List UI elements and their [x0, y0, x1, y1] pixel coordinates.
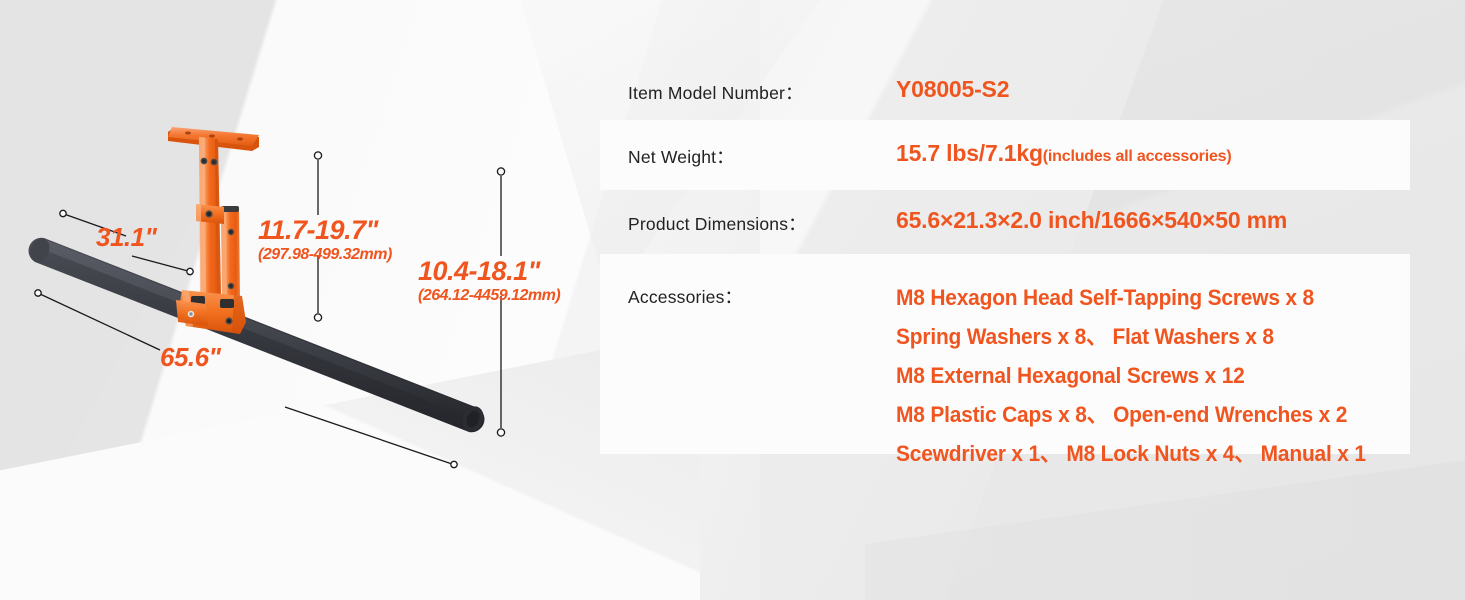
accessory-line: M8 External Hexagonal Screws x 12: [896, 356, 1374, 395]
callout-inch-value: 11.7-19.7": [258, 215, 392, 245]
callout-mm-value: (264.12-4459.12mm): [418, 286, 560, 306]
product-spec-banner: 31.1" 11.7-19.7" (297.98-499.32mm) 10.4-…: [0, 0, 1465, 600]
callout-rail-length-full: 65.6": [160, 342, 220, 372]
spec-row-accessories: Accessories： M8 Hexagon Head Self-Tappin…: [600, 254, 1410, 454]
callout-overall-height-range: 10.4-18.1" (264.12-4459.12mm): [418, 256, 560, 306]
spec-label: Net Weight：: [628, 120, 896, 169]
callout-inch-value: 31.1": [96, 222, 156, 252]
spec-row-net-weight: Net Weight： 15.7 lbs/7.1kg(includes all …: [600, 120, 1410, 190]
clamp-collar-upper: [196, 204, 224, 224]
callout-inch-value: 10.4-18.1": [418, 256, 560, 286]
spec-value-main: 15.7 lbs/7.1kg: [896, 140, 1043, 166]
callout-inch-value: 65.6": [160, 342, 220, 372]
spec-table: Item Model Number： Y08005-S2 Net Weight：…: [600, 60, 1410, 454]
accessory-line: M8 Hexagon Head Self-Tapping Screws x 8: [896, 278, 1374, 317]
spec-row-product-dimensions: Product Dimensions： 65.6×21.3×2.0 inch/1…: [600, 190, 1410, 254]
spec-value: M8 Hexagon Head Self-Tapping Screws x 8 …: [896, 254, 1410, 473]
accessory-line: M8 Plastic Caps x 8、 Open-end Wrenches x…: [896, 395, 1374, 434]
spec-row-item-model-number: Item Model Number： Y08005-S2: [600, 60, 1410, 120]
callout-post-height-range: 11.7-19.7" (297.98-499.32mm): [258, 215, 392, 265]
accessory-line: Scewdriver x 1、 M8 Lock Nuts x 4、 Manual…: [896, 434, 1374, 473]
spec-value-text: 15.7 lbs/7.1kg(includes all accessories): [896, 140, 1231, 166]
spec-label: Accessories：: [628, 254, 896, 309]
base-bracket: [176, 290, 246, 334]
spec-value-note: (includes all accessories): [1043, 148, 1232, 165]
spec-value: Y08005-S2: [896, 60, 1410, 102]
dimension-leader-lines: [35, 152, 505, 468]
callout-mm-value: (297.98-499.32mm): [258, 245, 392, 265]
callout-rail-length-short: 31.1": [96, 222, 156, 252]
spec-value: 65.6×21.3×2.0 inch/1666×540×50 mm: [896, 190, 1410, 233]
spec-value-text: Y08005-S2: [896, 76, 1009, 102]
accessory-line: Spring Washers x 8、 Flat Washers x 8: [896, 317, 1374, 356]
spec-value: 15.7 lbs/7.1kg(includes all accessories): [896, 120, 1410, 170]
spec-value-text: 65.6×21.3×2.0 inch/1666×540×50 mm: [896, 207, 1287, 233]
spec-label: Item Model Number：: [628, 60, 896, 105]
spec-label: Product Dimensions：: [628, 190, 896, 236]
